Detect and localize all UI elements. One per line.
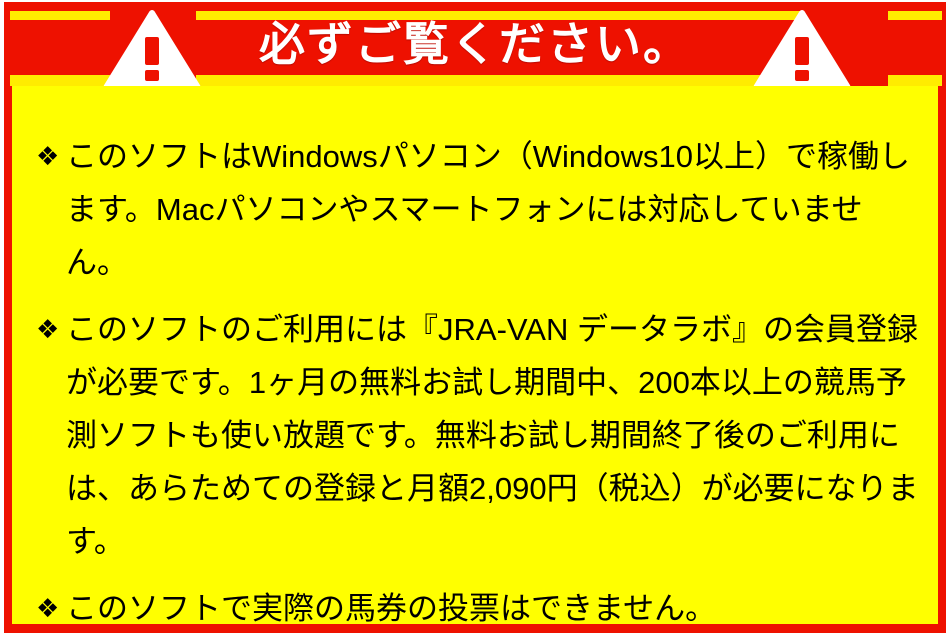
diamond-bullet-icon: ❖: [28, 130, 66, 183]
list-item: ❖ このソフトで実際の馬券の投票はできません。: [28, 582, 922, 635]
warning-triangle-icon: [102, 8, 202, 86]
header-band: 必ずご覧ください。: [4, 2, 946, 86]
list-item: ❖ このソフトはWindowsパソコン（Windows10以上）で稼働します。M…: [28, 130, 922, 289]
diamond-bullet-icon: ❖: [28, 303, 66, 356]
list-item-label: このソフトで実際の馬券の投票はできません。: [66, 582, 922, 635]
notice-body-frame: ❖ このソフトはWindowsパソコン（Windows10以上）で稼働します。M…: [4, 86, 946, 633]
list-item-label: このソフトはWindowsパソコン（Windows10以上）で稼働します。Mac…: [66, 130, 922, 289]
notice-bullet-list: ❖ このソフトはWindowsパソコン（Windows10以上）で稼働します。M…: [28, 130, 922, 637]
notice-body-panel: ❖ このソフトはWindowsパソコン（Windows10以上）で稼働します。M…: [12, 86, 938, 624]
list-item: ❖ このソフトのご利用には『JRA-VAN データラボ』の会員登録が必要です。1…: [28, 303, 922, 568]
warning-notice-banner: 必ずご覧ください。 ❖ このソフトはWindowsパソコン（Windows10以…: [0, 0, 950, 637]
list-item-label: このソフトのご利用には『JRA-VAN データラボ』の会員登録が必要です。1ヶ月…: [66, 303, 922, 568]
warning-triangle-icon: [752, 8, 852, 86]
diamond-bullet-icon: ❖: [28, 582, 66, 635]
